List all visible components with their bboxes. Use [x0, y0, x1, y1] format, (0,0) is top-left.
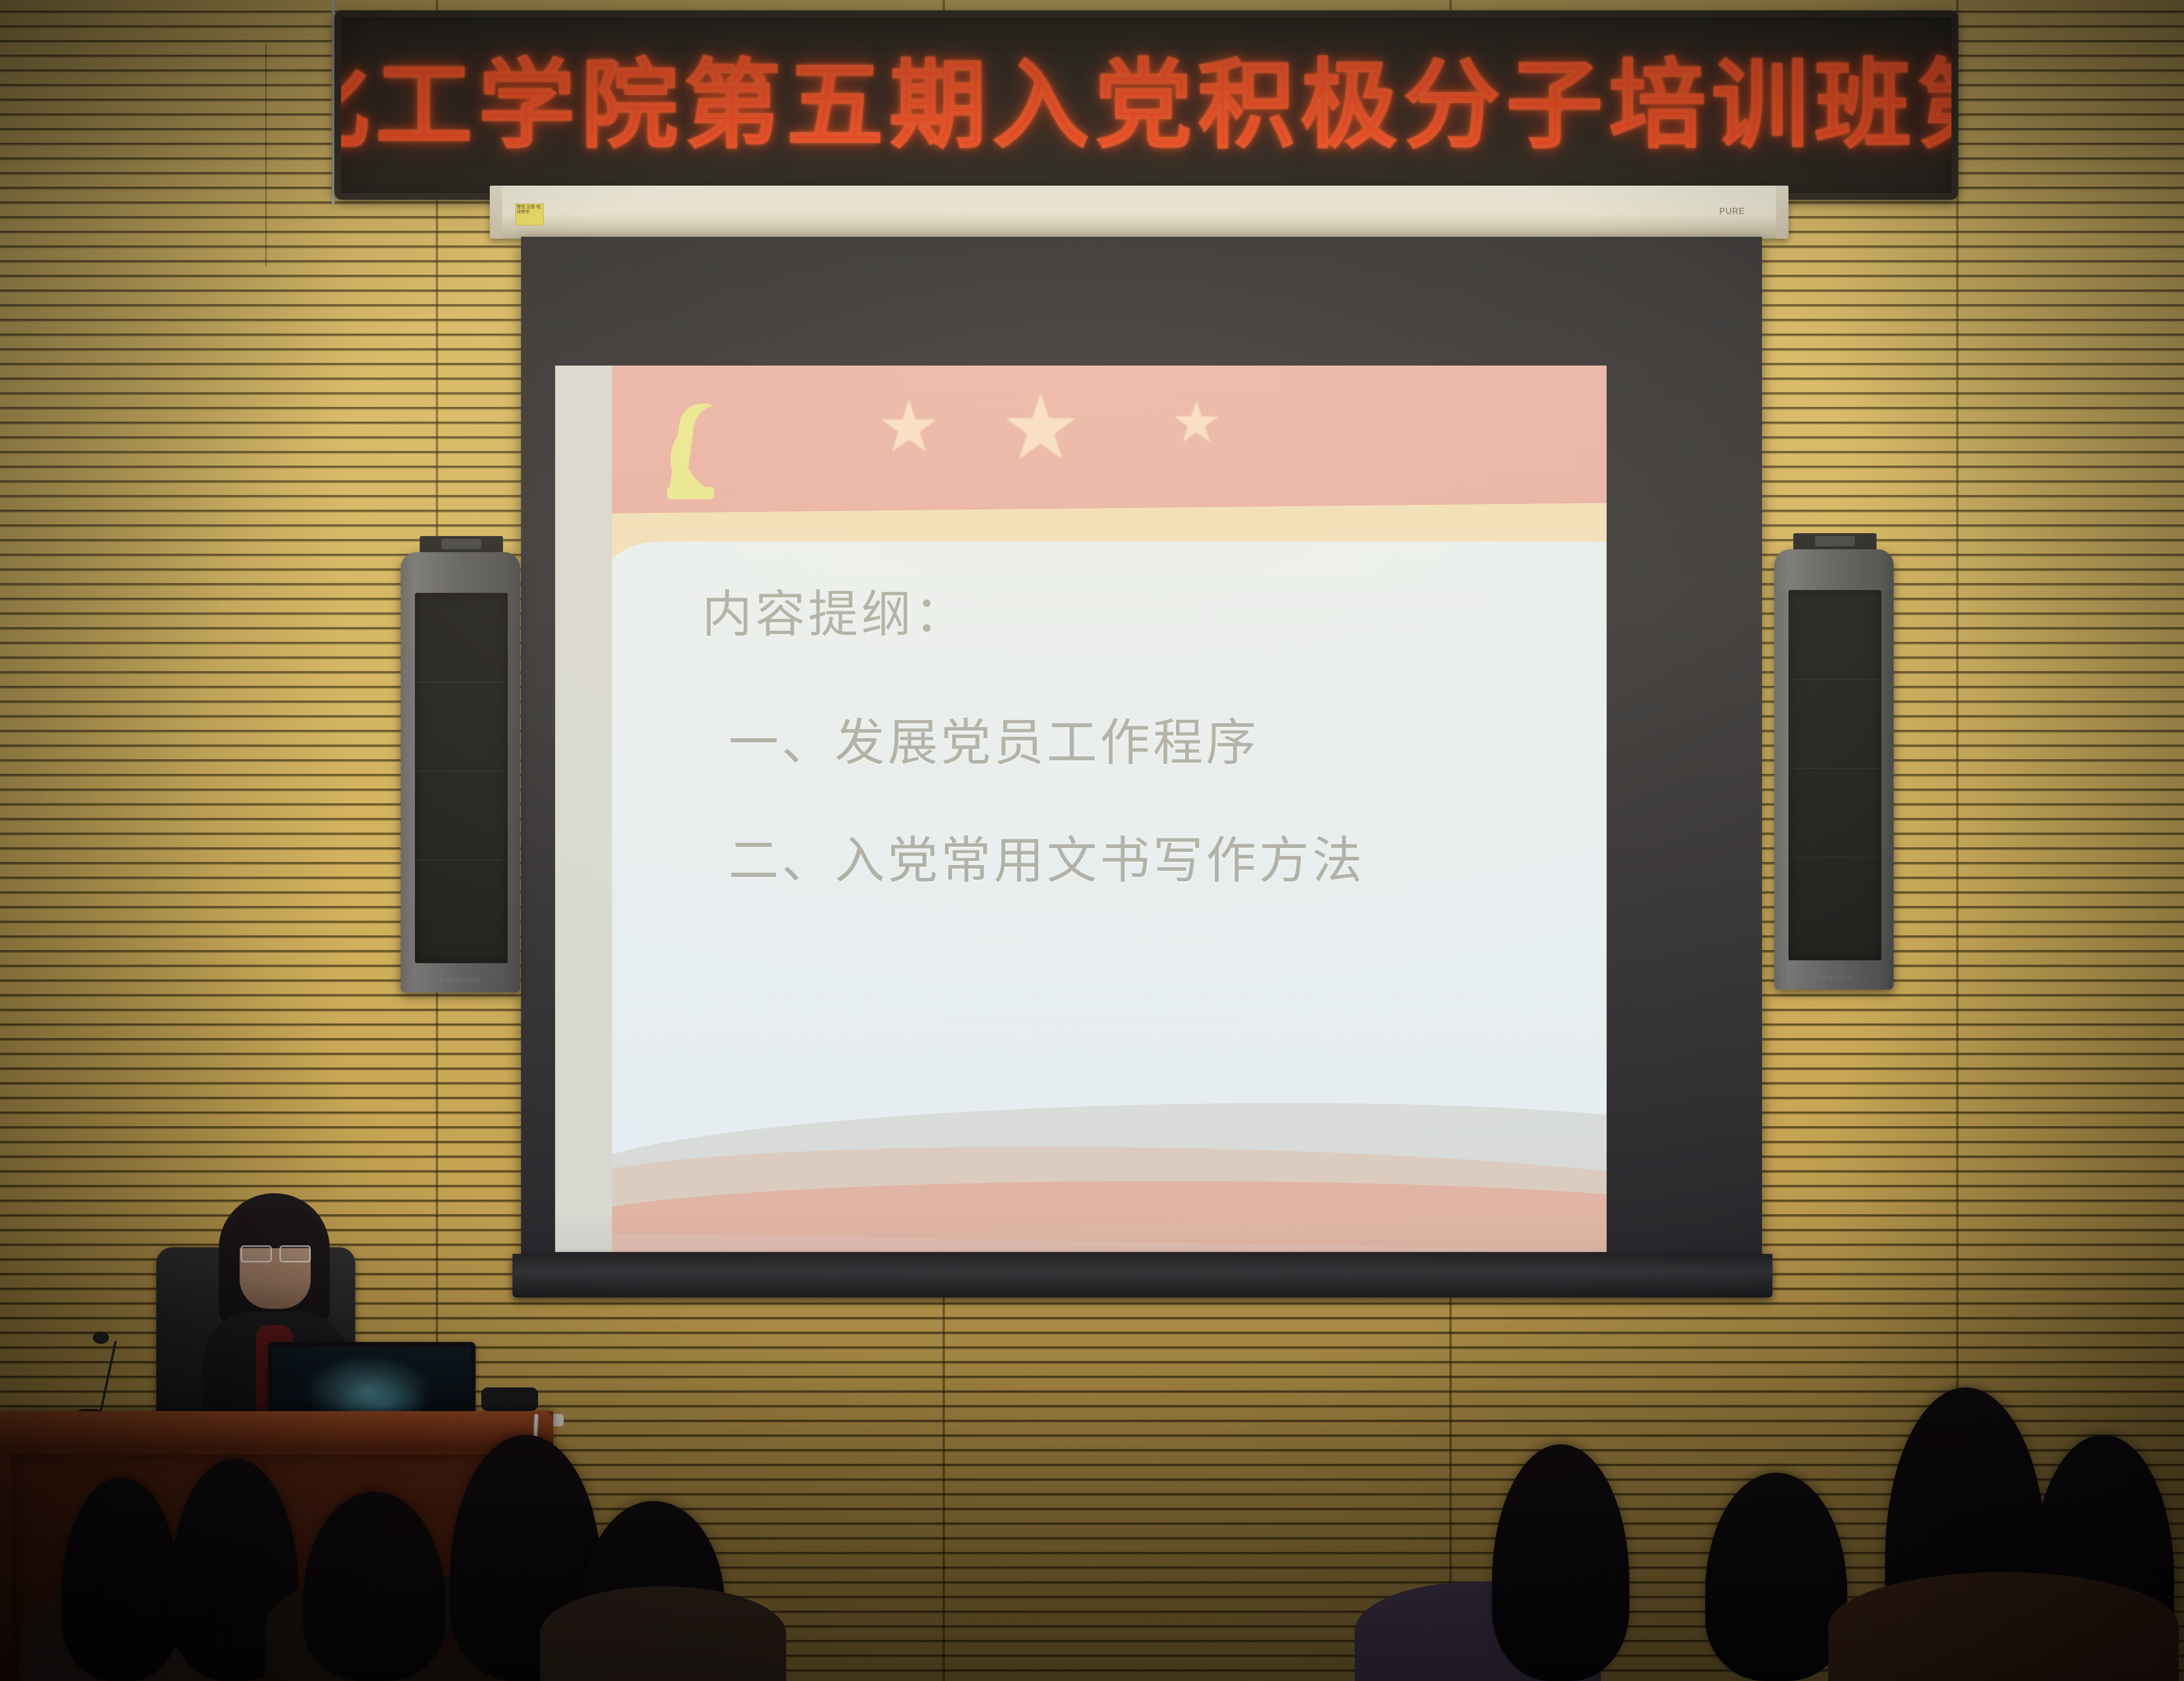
slide-outline-item-2: 二、入党常用文书写作方法 [728, 815, 1578, 907]
hammer-and-sickle-icon [651, 390, 753, 509]
housing-brand-text: PURE [1719, 206, 1745, 216]
presentation-slide: ★ ★ ★ 内容提纲： 一、发展党员工作程序 二、入党常用文书写作方法 [612, 366, 1607, 1252]
speaker-brand-label: Panasonic [401, 976, 520, 984]
lecture-hall-photo: 石油化工学院第五期入党积极分子培训班第三讲 警告 注意 电动卷帘 PURE ★ … [0, 0, 2184, 1681]
podium-top-surface [0, 1411, 553, 1447]
projected-image-area: ★ ★ ★ 内容提纲： 一、发展党员工作程序 二、入党常用文书写作方法 [555, 366, 1607, 1252]
projector-screen-surface: ★ ★ ★ 内容提纲： 一、发展党员工作程序 二、入党常用文书写作方法 [521, 237, 1762, 1271]
microphone-head [93, 1332, 109, 1344]
desk-object-pouch [481, 1387, 538, 1411]
projector-screen-weight-bar [512, 1254, 1772, 1297]
audience-shoulder [540, 1586, 786, 1681]
slide-red-banner [612, 366, 1607, 527]
speaker-grille [415, 593, 508, 963]
slide-outline-item-1: 一、发展党员工作程序 [728, 697, 1578, 789]
slide-text-block: 内容提纲： 一、发展党员工作程序 二、入党常用文书写作方法 [702, 569, 1578, 933]
presenter-fringe [231, 1208, 321, 1248]
wall-speaker-left: Panasonic [401, 552, 520, 993]
slide-star-icon: ★ [1171, 394, 1222, 451]
slide-star-icon: ★ [877, 391, 941, 462]
presenter-glasses [241, 1245, 311, 1260]
slide-heading: 内容提纲： [702, 569, 1578, 661]
led-banner-text: 石油化工学院第五期入党积极分子培训班第三讲 [334, 57, 1958, 154]
led-banner: 石油化工学院第五期入党积极分子培训班第三讲 [334, 10, 1958, 200]
housing-end-cap-left [490, 186, 502, 239]
speaker-grille [1789, 590, 1881, 960]
wall-speaker-right: Panasonic [1774, 549, 1894, 990]
podium-panel-seam [265, 44, 267, 266]
slide-star-icon: ★ [1000, 383, 1081, 473]
audience-shoulder [1828, 1572, 2179, 1681]
speaker-brand-label: Panasonic [1774, 973, 1894, 981]
slide-wave-pink [612, 1181, 1607, 1252]
housing-end-cap-right [1776, 186, 1789, 239]
projector-screen-housing: 警告 注意 电动卷帘 PURE [490, 186, 1789, 239]
housing-warning-label: 警告 注意 电动卷帘 [515, 204, 544, 225]
